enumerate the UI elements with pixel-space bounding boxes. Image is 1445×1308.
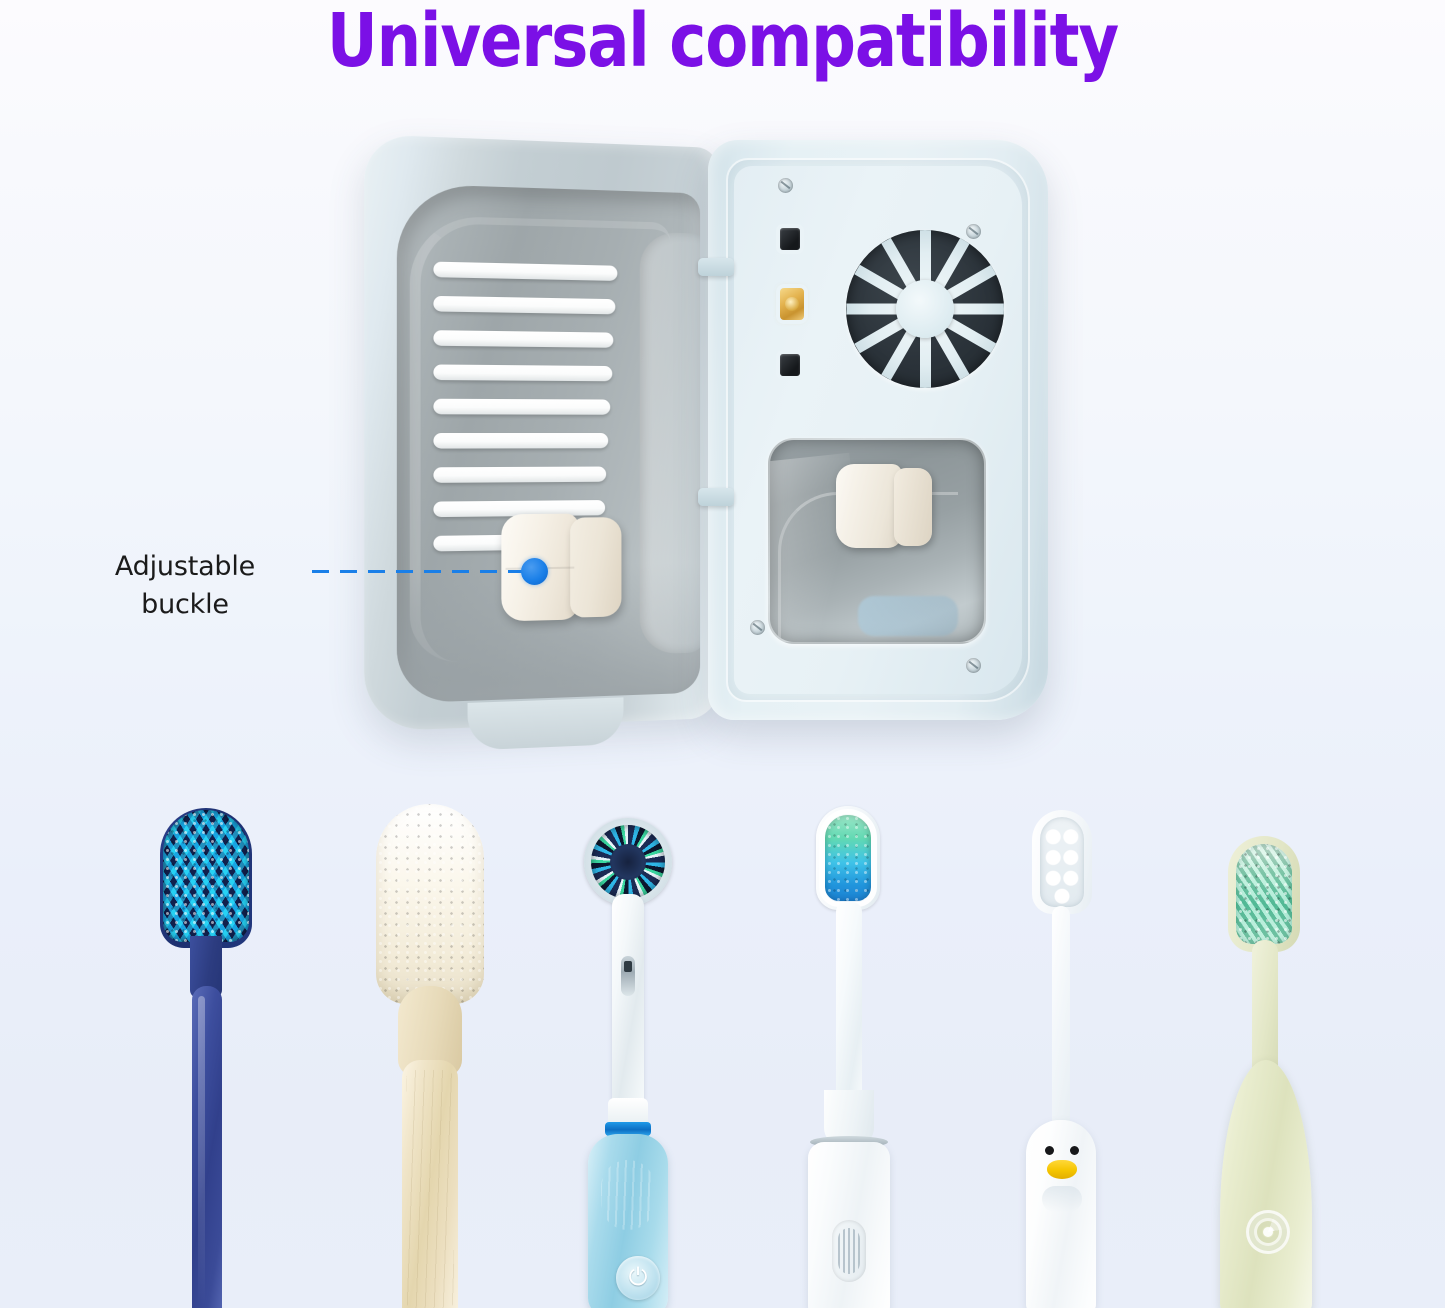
callout-leader-line <box>312 570 530 573</box>
vent-slat <box>433 262 617 281</box>
brush-handle <box>808 1142 890 1308</box>
lid-inner-face <box>734 166 1022 694</box>
brush-bristles <box>376 804 484 1004</box>
screw-top-right <box>966 224 981 239</box>
case-foot <box>468 697 624 750</box>
page-title: Universal compatibility <box>43 0 1401 86</box>
spiral-emblem-icon <box>1246 1210 1290 1254</box>
brush-handle <box>1026 1120 1096 1308</box>
indicator-led-top <box>780 228 800 250</box>
brush-handle <box>192 986 222 1308</box>
adjustable-buckle[interactable] <box>501 509 623 626</box>
callout-target-dot-icon <box>521 558 548 585</box>
brush-neck <box>612 894 644 1106</box>
brush-handle <box>1220 1060 1312 1308</box>
duck-beak-icon <box>1047 1160 1077 1179</box>
vent-slat <box>433 399 610 415</box>
brush-indicator <box>621 956 635 996</box>
kids-toothbrush-duck <box>1004 790 1116 1308</box>
product-feature-image: Universal compatibility <box>0 0 1445 1308</box>
brush-bristles-center <box>610 844 646 880</box>
case-left-tray <box>364 134 718 732</box>
fan-hub <box>896 280 954 338</box>
screw-top-left <box>778 178 793 193</box>
vent-slat <box>433 467 606 483</box>
sonic-toothbrush-white <box>790 790 906 1308</box>
brush-bristles <box>1040 817 1084 907</box>
vent-slat <box>433 296 615 314</box>
bamboo-grain <box>406 1070 454 1308</box>
brush-bristles <box>163 810 249 942</box>
power-button[interactable] <box>616 1256 660 1300</box>
vent-slat <box>433 433 608 449</box>
electric-toothbrush-round-head <box>568 790 688 1308</box>
screw-bottom-right <box>966 658 981 673</box>
case-right-lid <box>708 140 1048 720</box>
fan-grille-icon <box>846 230 1004 388</box>
uv-c-led <box>780 288 804 320</box>
brush-neck <box>1052 906 1070 1138</box>
buckle-lobe-right <box>570 517 621 618</box>
mirror-reflection-blue <box>858 596 958 636</box>
uv-sanitizer-case <box>378 140 1048 730</box>
toothbrush-sage-green <box>1204 790 1332 1308</box>
brush-head <box>1032 810 1092 914</box>
duck-eye-right-icon <box>1070 1146 1079 1155</box>
hinge-tab-top <box>698 258 734 276</box>
bamboo-toothbrush <box>362 790 498 1308</box>
compatible-toothbrush-row <box>0 790 1445 1308</box>
brush-bristles <box>1236 844 1292 944</box>
tray-interior <box>397 184 700 704</box>
callout-label-line-1: Adjustable <box>60 548 310 586</box>
duck-eye-left-icon <box>1045 1146 1054 1155</box>
brush-handle <box>588 1134 668 1308</box>
screw-bottom-left <box>750 620 765 635</box>
mirror-panel <box>768 438 986 644</box>
callout-adjustable-buckle: Adjustable buckle <box>60 548 310 624</box>
brush-head <box>584 818 672 906</box>
indicator-led-bottom <box>780 354 800 376</box>
duck-wings-icon <box>1042 1186 1082 1212</box>
callout-label-line-2: buckle <box>60 586 310 624</box>
hinge-tab-bottom <box>698 488 734 506</box>
brush-head-rim <box>819 809 877 907</box>
brush-head <box>1228 836 1300 952</box>
mode-button[interactable] <box>832 1220 866 1282</box>
mirror-reflection-buckle-right <box>894 468 932 546</box>
vent-slat <box>433 330 613 348</box>
brush-head <box>816 806 880 910</box>
manual-toothbrush-navy <box>150 790 260 1308</box>
vent-slat <box>433 364 612 381</box>
